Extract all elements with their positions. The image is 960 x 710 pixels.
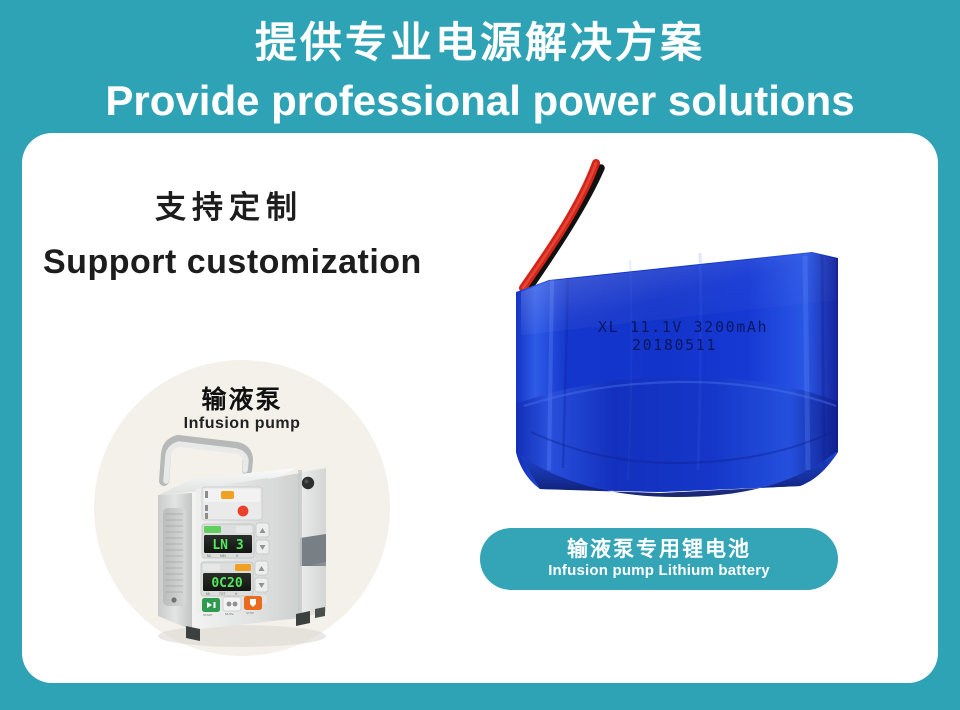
caption-badge: 输液泵专用锂电池 Infusion pump Lithium battery bbox=[480, 528, 838, 590]
caption-badge-cn: 输液泵专用锂电池 bbox=[567, 537, 751, 561]
header-title-cn: 提供专业电源解决方案 bbox=[255, 22, 705, 64]
infusion-pump-circle: 输液泵 Infusion pump bbox=[94, 360, 390, 656]
support-heading-cn: 支持定制 bbox=[155, 182, 303, 227]
caption-badge-en: Infusion pump Lithium battery bbox=[548, 561, 770, 581]
pump-label-en: Infusion pump bbox=[94, 415, 390, 433]
support-heading-en: Support customization bbox=[43, 243, 422, 282]
header-title-en: Provide professional power solutions bbox=[105, 80, 854, 122]
poster-canvas: 提供专业电源解决方案 Provide professional power so… bbox=[0, 0, 960, 710]
pump-label-cn: 输液泵 bbox=[94, 380, 390, 416]
header-banner: 提供专业电源解决方案 Provide professional power so… bbox=[0, 0, 960, 128]
